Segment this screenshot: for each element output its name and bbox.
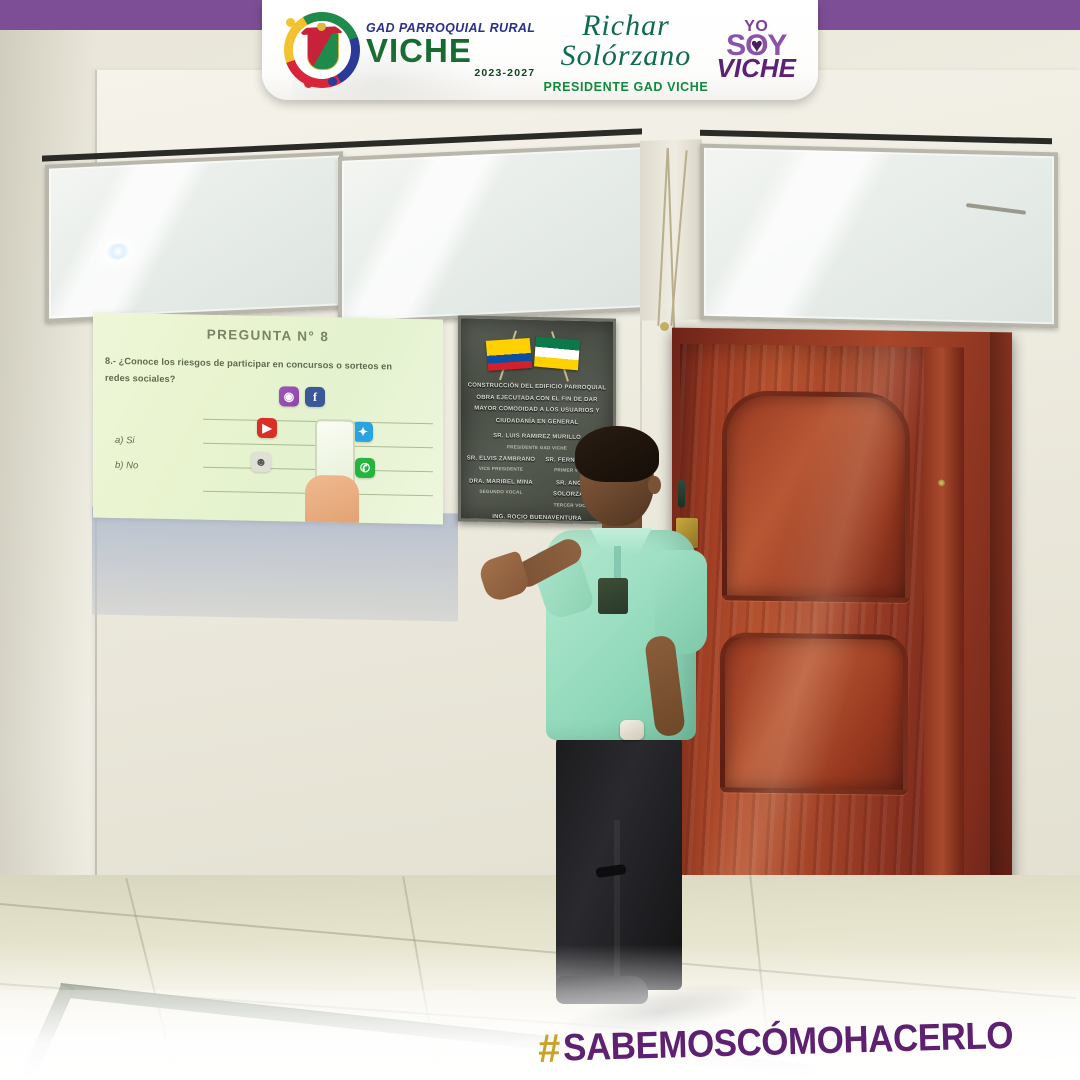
- shirt-emblem: [598, 578, 628, 614]
- president-signature-block: Richar Solórzano PRESIDENTE GAD VICHE: [535, 11, 716, 94]
- heart-icon: ♥: [751, 38, 762, 54]
- gad-viche-coat-of-arms-icon: [284, 12, 360, 88]
- room-photograph: PREGUNTA N° 8 8.- ¿Conoce los riesgos de…: [0, 30, 1080, 1080]
- person-open-hand: [477, 550, 532, 604]
- emblem-center: [295, 23, 349, 77]
- hash-symbol-icon: #: [537, 1029, 560, 1070]
- emblem-shield: [307, 32, 339, 70]
- emblem-dot-blue: [328, 77, 337, 86]
- logo-line-soy: SOY ♥: [717, 34, 796, 59]
- emblem-dot-red: [304, 79, 313, 88]
- header-banner: GAD PARROQUIAL RURAL VICHE 2023-2027 Ric…: [262, 0, 818, 100]
- social-media-post-card: PREGUNTA N° 8 8.- ¿Conoce los riesgos de…: [0, 0, 1080, 1080]
- yo-soy-viche-logo: YO SOY ♥ VICHE: [717, 20, 796, 79]
- emblem-dot-yellow: [286, 18, 295, 27]
- person-hair: [575, 426, 659, 482]
- person-ear: [648, 476, 661, 494]
- speaker-person: [0, 30, 1080, 1080]
- president-role-label: PRESIDENTE GAD VICHE: [535, 80, 716, 94]
- president-signature: Richar Solórzano: [535, 11, 716, 71]
- person-placket: [614, 546, 621, 578]
- wristwatch: [620, 720, 644, 740]
